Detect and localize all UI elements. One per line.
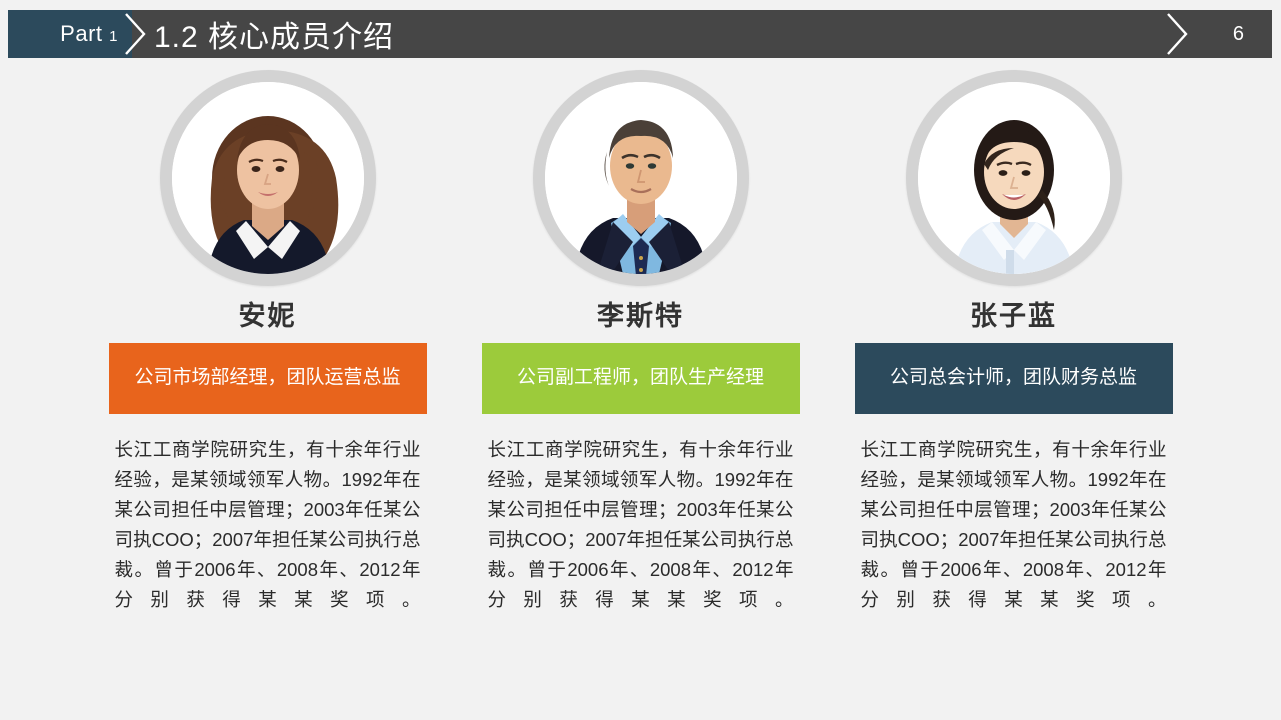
part-badge-label: Part 1 (60, 23, 118, 45)
page-number: 6 (1233, 10, 1244, 58)
member-card: 安妮 公司市场部经理，团队运营总监 长江工商学院研究生，有十余年行业经验，是某领… (109, 70, 427, 615)
member-name: 李斯特 (597, 302, 684, 332)
slide-root: Part 1 1.2 核心成员介绍 6 (0, 0, 1281, 720)
avatar (533, 70, 749, 286)
member-name: 安妮 (239, 302, 297, 332)
member-card: 李斯特 公司副工程师，团队生产经理 长江工商学院研究生，有十余年行业经验，是某领… (482, 70, 800, 615)
member-bio: 长江工商学院研究生，有十余年行业经验，是某领域领军人物。1992年在某公司担任中… (861, 435, 1167, 615)
avatar (160, 70, 376, 286)
member-role-banner: 公司总会计师，团队财务总监 (855, 343, 1173, 414)
slide-header: Part 1 1.2 核心成员介绍 6 (8, 10, 1272, 58)
member-role-banner: 公司市场部经理，团队运营总监 (109, 343, 427, 414)
page-title: 1.2 核心成员介绍 (154, 10, 394, 58)
avatar-photo-woman-curly (172, 82, 364, 274)
part-badge: Part 1 (8, 10, 132, 58)
chevron-right-icon-right (1162, 10, 1190, 58)
member-bio: 长江工商学院研究生，有十余年行业经验，是某领域领军人物。1992年在某公司担任中… (488, 435, 794, 615)
member-bio: 长江工商学院研究生，有十余年行业经验，是某领域领军人物。1992年在某公司担任中… (115, 435, 421, 615)
avatar (906, 70, 1122, 286)
member-name: 张子蓝 (970, 302, 1057, 332)
member-list: 安妮 公司市场部经理，团队运营总监 长江工商学院研究生，有十余年行业经验，是某领… (0, 70, 1281, 615)
member-card: 张子蓝 公司总会计师，团队财务总监 长江工商学院研究生，有十余年行业经验，是某领… (855, 70, 1173, 615)
member-role-banner: 公司副工程师，团队生产经理 (482, 343, 800, 414)
avatar-photo-man-suit (545, 82, 737, 274)
chevron-right-icon-left (120, 10, 148, 58)
avatar-photo-woman-white-shirt (918, 82, 1110, 274)
